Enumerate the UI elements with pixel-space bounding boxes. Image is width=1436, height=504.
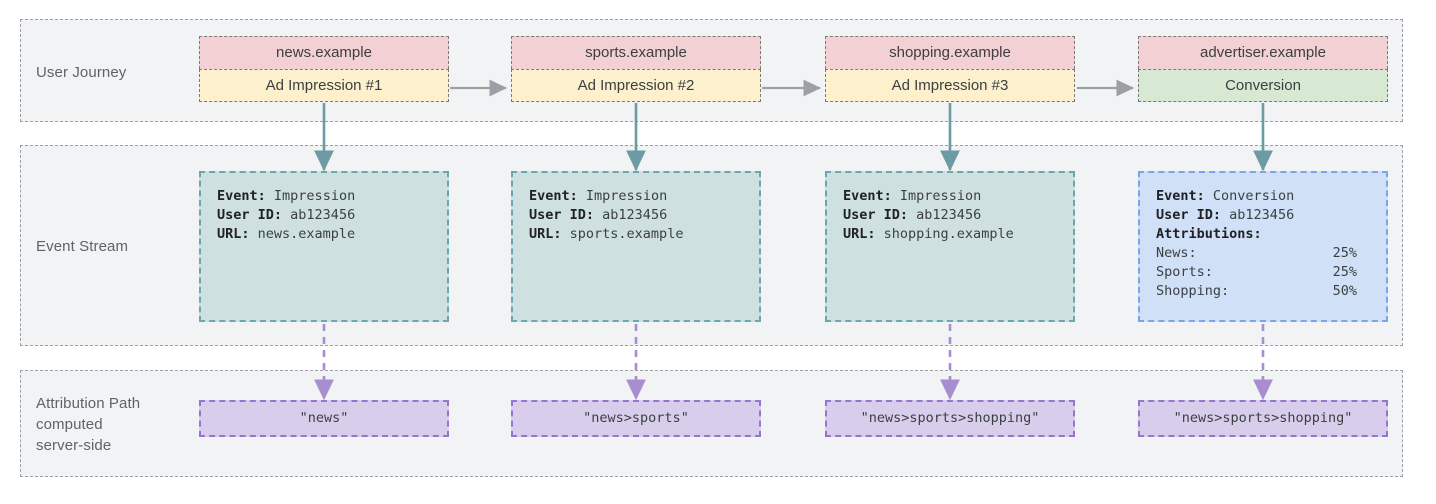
journey-action-1: Ad Impression #1: [199, 69, 449, 102]
event-label-user-1: User ID:: [217, 207, 282, 223]
lane-label-attribution-path: Attribution Path computed server-side: [36, 393, 140, 456]
attribution-chip-4[interactable]: "news>sports>shopping": [1138, 400, 1388, 437]
attribution-chip-2[interactable]: "news>sports": [511, 400, 761, 437]
attribution-name-shopping: Shopping:: [1156, 282, 1298, 301]
event-label-user-2: User ID:: [529, 207, 594, 223]
attribution-row-sports: Sports:25%: [1156, 263, 1357, 282]
attribution-name-sports: Sports:: [1156, 263, 1298, 282]
event-label-user-3: User ID:: [843, 207, 908, 223]
attribution-row-shopping: Shopping:50%: [1156, 282, 1357, 301]
event-field-event-4: Event: Conversion: [1156, 187, 1370, 206]
event-value-user-1: ab123456: [290, 207, 355, 223]
event-field-user-2: User ID: ab123456: [529, 206, 743, 225]
journey-site-4: advertiser.example: [1138, 36, 1388, 69]
event-value-event-4: Conversion: [1213, 188, 1294, 204]
event-value-event-2: Impression: [586, 188, 667, 204]
event-value-event-3: Impression: [900, 188, 981, 204]
event-label-event-1: Event:: [217, 188, 266, 204]
event-label-url-3: URL:: [843, 226, 876, 242]
event-card-3[interactable]: Event: Impression User ID: ab123456 URL:…: [825, 171, 1075, 322]
journey-card-3[interactable]: shopping.example Ad Impression #3: [825, 36, 1075, 102]
attribution-flow-diagram: User Journey Event Stream Attribution Pa…: [0, 0, 1436, 504]
event-field-url-2: URL: sports.example: [529, 225, 743, 244]
event-card-2[interactable]: Event: Impression User ID: ab123456 URL:…: [511, 171, 761, 322]
journey-card-1[interactable]: news.example Ad Impression #1: [199, 36, 449, 102]
journey-card-2[interactable]: sports.example Ad Impression #2: [511, 36, 761, 102]
event-field-event-1: Event: Impression: [217, 187, 431, 206]
attribution-value-shopping: 50%: [1298, 282, 1357, 301]
attribution-chip-3[interactable]: "news>sports>shopping": [825, 400, 1075, 437]
event-value-user-4: ab123456: [1229, 207, 1294, 223]
event-field-url-3: URL: shopping.example: [843, 225, 1057, 244]
event-value-url-3: shopping.example: [884, 226, 1014, 242]
event-field-user-1: User ID: ab123456: [217, 206, 431, 225]
journey-site-1: news.example: [199, 36, 449, 69]
event-field-user-3: User ID: ab123456: [843, 206, 1057, 225]
event-field-attributions-4: Attributions:: [1156, 225, 1370, 244]
event-value-url-2: sports.example: [570, 226, 684, 242]
event-label-url-1: URL:: [217, 226, 250, 242]
attribution-value-news: 25%: [1298, 244, 1357, 263]
lane-label-event-stream: Event Stream: [36, 236, 128, 257]
event-value-event-1: Impression: [274, 188, 355, 204]
event-field-user-4: User ID: ab123456: [1156, 206, 1370, 225]
journey-action-2: Ad Impression #2: [511, 69, 761, 102]
attribution-name-news: News:: [1156, 244, 1298, 263]
event-label-url-2: URL:: [529, 226, 562, 242]
event-field-event-2: Event: Impression: [529, 187, 743, 206]
attribution-value-sports: 25%: [1298, 263, 1357, 282]
attribution-row-news: News:25%: [1156, 244, 1357, 263]
journey-card-4[interactable]: advertiser.example Conversion: [1138, 36, 1388, 102]
event-field-event-3: Event: Impression: [843, 187, 1057, 206]
event-value-user-2: ab123456: [602, 207, 667, 223]
event-label-user-4: User ID:: [1156, 207, 1221, 223]
event-label-event-3: Event:: [843, 188, 892, 204]
event-card-1[interactable]: Event: Impression User ID: ab123456 URL:…: [199, 171, 449, 322]
lane-label-user-journey: User Journey: [36, 62, 126, 83]
event-card-4[interactable]: Event: Conversion User ID: ab123456 Attr…: [1138, 171, 1388, 322]
journey-action-4: Conversion: [1138, 69, 1388, 102]
event-field-url-1: URL: news.example: [217, 225, 431, 244]
attribution-chip-1[interactable]: "news": [199, 400, 449, 437]
event-label-event-2: Event:: [529, 188, 578, 204]
event-label-attributions-4: Attributions:: [1156, 226, 1262, 242]
journey-action-3: Ad Impression #3: [825, 69, 1075, 102]
event-label-event-4: Event:: [1156, 188, 1205, 204]
journey-site-2: sports.example: [511, 36, 761, 69]
event-value-url-1: news.example: [258, 226, 356, 242]
event-value-user-3: ab123456: [916, 207, 981, 223]
journey-site-3: shopping.example: [825, 36, 1075, 69]
